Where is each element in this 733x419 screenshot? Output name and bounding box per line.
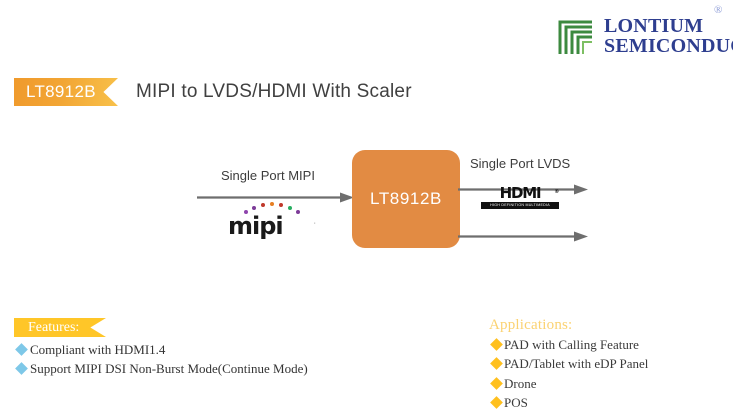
features-list: Compliant with HDMI1.4 Support MIPI DSI … bbox=[14, 342, 344, 378]
company-logo: LONTIUM SEMICONDUCTOR ® bbox=[556, 14, 733, 58]
output-label-lvds: Single Port LVDS bbox=[470, 156, 570, 171]
features-heading: Features: bbox=[14, 318, 106, 337]
applications-heading: Applications: bbox=[489, 317, 729, 334]
page-title: MIPI to LVDS/HDMI With Scaler bbox=[136, 78, 412, 106]
feature-text: Compliant with HDMI1.4 bbox=[30, 342, 165, 358]
application-text: Drone bbox=[504, 376, 537, 392]
list-item: Compliant with HDMI1.4 bbox=[14, 342, 344, 358]
application-text: POS bbox=[504, 395, 528, 411]
feature-text: Support MIPI DSI Non-Burst Mode(Continue… bbox=[30, 361, 308, 377]
list-item: Drone bbox=[489, 376, 729, 392]
brand-line-1: LONTIUM bbox=[604, 16, 733, 36]
diamond-bullet-icon bbox=[490, 396, 503, 409]
lontium-logo-mark bbox=[556, 14, 600, 58]
mipi-logo-registered-icon: · bbox=[314, 220, 316, 227]
chip-block-lt8912b: LT8912B bbox=[352, 150, 460, 248]
part-number-badge: LT8912B bbox=[14, 78, 118, 106]
hdmi-logo-registered-icon: ® bbox=[554, 184, 558, 201]
hdmi-logo-text: HDMI® bbox=[481, 185, 559, 202]
brand-line-2: SEMICONDUCTOR bbox=[604, 36, 733, 56]
diamond-bullet-icon bbox=[15, 362, 28, 375]
hdmi-logo-tagline: HIGH DEFINITION MULTIMEDIA INTERFACE bbox=[481, 202, 559, 209]
mipi-logo-text: mipi bbox=[228, 214, 283, 238]
diamond-bullet-icon bbox=[490, 357, 503, 370]
diamond-bullet-icon bbox=[15, 343, 28, 356]
applications-section: Applications: PAD with Calling Feature P… bbox=[489, 317, 729, 414]
applications-list: PAD with Calling Feature PAD/Tablet with… bbox=[489, 337, 729, 411]
title-row: LT8912B MIPI to LVDS/HDMI With Scaler bbox=[0, 78, 733, 110]
input-label-mipi: Single Port MIPI bbox=[221, 168, 315, 183]
features-section: Features: Compliant with HDMI1.4 Support… bbox=[14, 318, 344, 381]
list-item: PAD with Calling Feature bbox=[489, 337, 729, 353]
application-text: PAD/Tablet with eDP Panel bbox=[504, 356, 648, 372]
diamond-bullet-icon bbox=[490, 338, 503, 351]
output-arrow-hdmi-icon bbox=[458, 229, 588, 240]
input-arrow-icon bbox=[197, 190, 354, 201]
list-item: Support MIPI DSI Non-Burst Mode(Continue… bbox=[14, 361, 344, 377]
list-item: POS bbox=[489, 395, 729, 411]
hdmi-logo: HDMI® HIGH DEFINITION MULTIMEDIA INTERFA… bbox=[481, 185, 559, 211]
diamond-bullet-icon bbox=[490, 377, 503, 390]
registered-trademark-icon: ® bbox=[714, 4, 722, 16]
list-item: PAD/Tablet with eDP Panel bbox=[489, 356, 729, 372]
block-diagram: Single Port MIPI mipi · LT8912B S bbox=[0, 140, 733, 265]
mipi-logo: mipi · bbox=[228, 202, 316, 236]
lontium-logo-text: LONTIUM SEMICONDUCTOR ® bbox=[604, 16, 733, 57]
application-text: PAD with Calling Feature bbox=[504, 337, 639, 353]
slide-root: LONTIUM SEMICONDUCTOR ® LT8912B MIPI to … bbox=[0, 0, 733, 419]
